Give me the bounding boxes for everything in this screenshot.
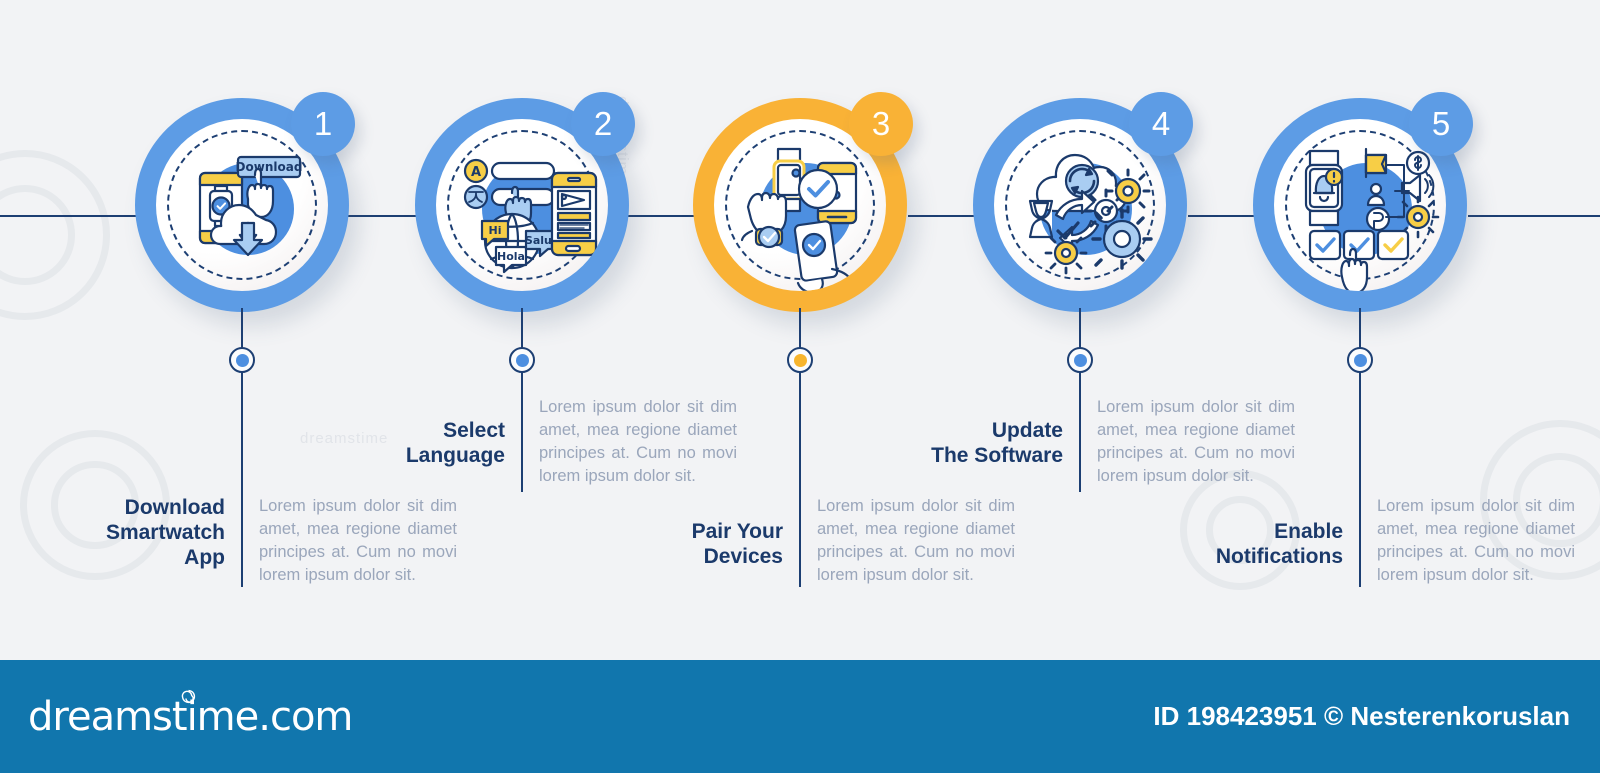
node-core xyxy=(794,354,807,367)
timeline-line-seg xyxy=(1188,215,1256,217)
step-title-5: EnableNotifications xyxy=(1195,495,1360,569)
step-title-line: Smartwatch xyxy=(77,520,225,545)
node-core xyxy=(1354,354,1367,367)
step-number-badge-1: 1 xyxy=(291,92,355,156)
watermark-spiral xyxy=(0,150,110,320)
brand-logo: dreamstime.com xyxy=(28,694,352,740)
timeline-node-1[interactable] xyxy=(229,347,255,373)
timeline-node-4[interactable] xyxy=(1067,347,1093,373)
step-body-5: Lorem ipsum dolor sit dim amet, mea regi… xyxy=(1360,495,1575,587)
step-title-line: App xyxy=(77,545,225,570)
step-text-block-4: UpdateThe SoftwareLorem ipsum dolor sit … xyxy=(915,396,1315,488)
footer-bar: dreamstime.com ID 198423951 © Nesterenko… xyxy=(0,660,1600,773)
step-title-line: Pair Your xyxy=(635,519,783,544)
step-number-badge-5: 5 xyxy=(1409,92,1473,156)
step-title-line: Select xyxy=(357,418,505,443)
timeline-node-2[interactable] xyxy=(509,347,535,373)
step-text-block-3: Pair YourDevicesLorem ipsum dolor sit di… xyxy=(635,495,1035,587)
step-number-badge-2: 2 xyxy=(571,92,635,156)
svg-text:Download: Download xyxy=(236,160,303,174)
step-number-badge-4: 4 xyxy=(1129,92,1193,156)
credit-text: ID 198423951 © Nesterenkoruslan xyxy=(1153,701,1570,732)
timeline-line-seg xyxy=(628,215,696,217)
svg-text:Hola: Hola xyxy=(497,250,525,263)
step-text-block-5: EnableNotificationsLorem ipsum dolor sit… xyxy=(1195,495,1595,587)
step-body-1: Lorem ipsum dolor sit dim amet, mea regi… xyxy=(242,495,457,587)
step-title-4: UpdateThe Software xyxy=(915,396,1080,468)
step-body-3: Lorem ipsum dolor sit dim amet, mea regi… xyxy=(800,495,1015,587)
timeline-node-3[interactable] xyxy=(787,347,813,373)
step-title-2: SelectLanguage xyxy=(357,396,522,468)
node-core xyxy=(236,354,249,367)
step-title-1: DownloadSmartwatchApp xyxy=(77,495,242,570)
timeline-line-left xyxy=(0,215,140,217)
step-title-line: Enable xyxy=(1195,519,1343,544)
step-title-line: Devices xyxy=(635,544,783,569)
step-title-line: The Software xyxy=(915,443,1063,468)
step-number-badge-3: 3 xyxy=(849,92,913,156)
step-body-4: Lorem ipsum dolor sit dim amet, mea regi… xyxy=(1080,396,1295,488)
step-title-3: Pair YourDevices xyxy=(635,495,800,569)
step-title-line: Language xyxy=(357,443,505,468)
node-core xyxy=(1074,354,1087,367)
timeline-line-seg xyxy=(908,215,976,217)
svg-text:A: A xyxy=(471,165,481,180)
spiral-icon xyxy=(180,688,197,705)
node-core xyxy=(516,354,529,367)
timeline-line-seg xyxy=(348,215,416,217)
step-body-2: Lorem ipsum dolor sit dim amet, mea regi… xyxy=(522,396,737,488)
step-title-line: Download xyxy=(77,495,225,520)
step-title-line: Notifications xyxy=(1195,544,1343,569)
timeline-line-right xyxy=(1468,215,1600,217)
timeline-node-5[interactable] xyxy=(1347,347,1373,373)
svg-text:Hi: Hi xyxy=(489,224,502,237)
step-text-block-1: DownloadSmartwatchAppLorem ipsum dolor s… xyxy=(77,495,477,587)
infographic-canvas: dreamstime.com dreamstime Download 1Down… xyxy=(0,0,1600,773)
step-title-line: Update xyxy=(915,418,1063,443)
step-text-block-2: SelectLanguageLorem ipsum dolor sit dim … xyxy=(357,396,757,488)
